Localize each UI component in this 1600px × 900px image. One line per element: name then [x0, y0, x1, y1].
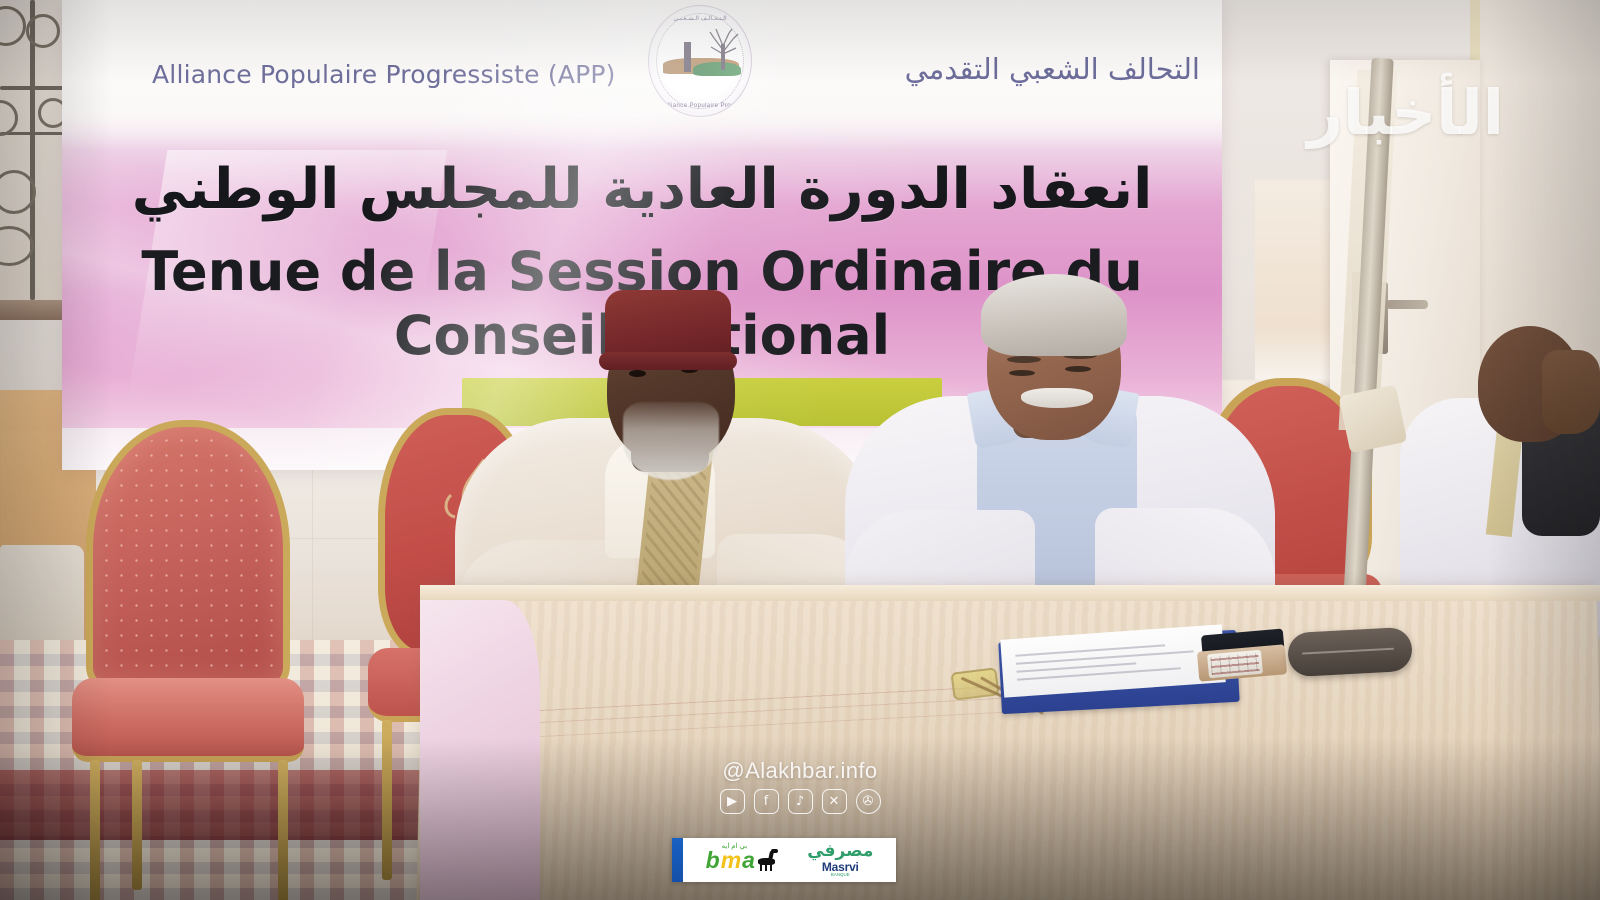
emblem-tree-icon — [707, 28, 741, 70]
party-name-french: Alliance Populaire Progressiste (APP) — [152, 60, 616, 89]
masrvi-arabic-text: مصرفي — [807, 843, 873, 860]
masrvi-subtitle: BANQUE — [831, 873, 850, 878]
camel-icon — [756, 851, 778, 869]
eye — [629, 370, 646, 377]
sponsor-bar: بي ام ايه b m a مصرفي Masrvi BANQUE — [672, 838, 896, 882]
bma-letter-b: b — [706, 849, 719, 872]
door-lever — [1386, 300, 1428, 309]
white-mustache — [1021, 388, 1093, 408]
pole-cloth-knot — [1339, 385, 1408, 454]
camel-head — [771, 849, 778, 853]
chair-seat — [72, 678, 304, 762]
phone-keypad — [1207, 650, 1263, 679]
banner-title-arabic: انعقاد الدورة العادية للمجلس الوطني — [62, 160, 1222, 220]
emblem-obelisk-icon — [684, 42, 691, 72]
party-name-arabic: التحالف الشعبي التقدمي — [905, 52, 1200, 86]
banquet-chair-left — [72, 420, 304, 890]
alakhbar-brand-watermark: الأخبار — [1307, 76, 1504, 149]
camel-leg — [765, 864, 767, 871]
party-emblem-logo: الـتـحـالـف الـشـعـبـي Alliance Populair… — [648, 5, 752, 117]
eye — [1009, 370, 1035, 376]
eyebrow — [1007, 356, 1041, 363]
eye — [1065, 366, 1091, 372]
eyeglass-case — [1287, 627, 1413, 677]
sponsor-bar-accent — [672, 838, 683, 882]
camel-leg — [760, 864, 762, 871]
bma-arabic-tagline: بي ام ايه — [722, 842, 748, 850]
table-edge — [420, 585, 1600, 601]
chair-leg — [278, 760, 288, 900]
bma-letter-m: m — [721, 849, 740, 872]
chair-backrest — [86, 420, 290, 688]
grille-scroll — [26, 14, 60, 48]
fez-brim — [599, 352, 737, 370]
photo-frame: Alliance Populaire Progressiste (APP) ال… — [0, 0, 1600, 900]
background-man-right — [1400, 320, 1600, 630]
camel-leg — [770, 864, 772, 871]
chair-leg — [132, 760, 142, 890]
emblem-top-text: الـتـحـالـف الـشـعـبـي — [649, 15, 751, 22]
emblem-bottom-text: Alliance Populaire Prog. — [649, 103, 751, 109]
tree-svg — [707, 28, 741, 70]
bma-logo[interactable]: بي ام ايه b m a — [706, 849, 778, 872]
chair-leg — [382, 720, 392, 880]
chair-leg — [90, 760, 100, 900]
table-drape-cloth — [420, 600, 540, 900]
white-beard — [623, 402, 719, 480]
masrvi-latin-text: Masrvi — [822, 861, 859, 873]
masrvi-logo[interactable]: مصرفي Masrvi BANQUE — [807, 843, 873, 878]
bma-letter-a: a — [742, 849, 754, 872]
hand-on-forehead — [1542, 350, 1600, 434]
gray-hair — [981, 274, 1127, 356]
sponsor-logos: بي ام ايه b m a مصرفي Masrvi BANQUE — [683, 843, 896, 878]
